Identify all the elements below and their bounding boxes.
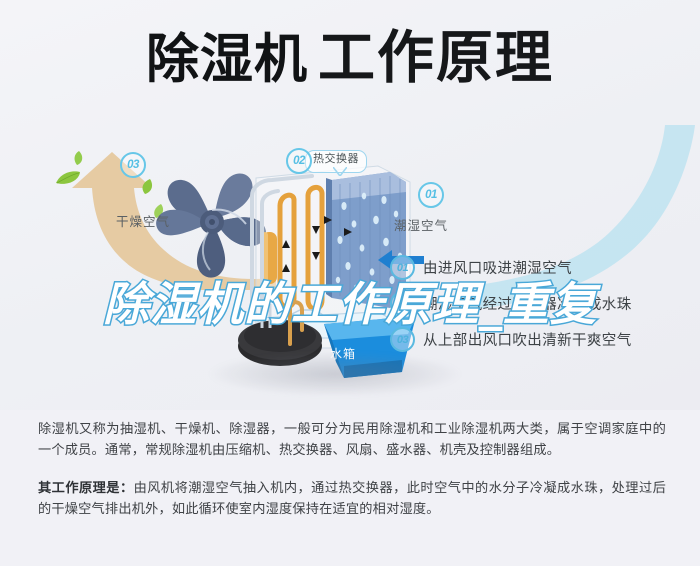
legend-text: 从上部出风口吹出清新干爽空气	[423, 329, 632, 350]
legend-item: 03 从上部出风口吹出清新干爽空气	[390, 327, 690, 352]
legend-item: 01 由进风口吸进潮湿空气	[390, 255, 690, 280]
label-moist-air: 潮湿空气	[394, 215, 448, 234]
legend-item: 02 潮湿空气经过蒸发器冷凝成水珠	[390, 291, 690, 316]
diagram-badge-02: 02	[286, 148, 312, 174]
diagram-badge-01: 01	[418, 182, 444, 208]
page-title: 除湿机工作原理	[0, 30, 700, 87]
diagram-badge-03: 03	[120, 152, 146, 178]
label-dry-air: 干燥空气	[116, 211, 170, 230]
paragraph-1: 除湿机又称为抽湿机、干燥机、除湿器，一般可分为民用除湿机和工业除湿机两大类，属于…	[38, 418, 666, 460]
legend-num: 01	[390, 255, 415, 280]
legend-list: 01 由进风口吸进潮湿空气 02 潮湿空气经过蒸发器冷凝成水珠 03 从上部出风…	[390, 255, 690, 363]
legend-num: 02	[390, 291, 415, 316]
leaf-icon	[55, 170, 81, 186]
legend-text: 潮湿空气经过蒸发器冷凝成水珠	[423, 293, 632, 314]
page-title-part1: 除湿机	[146, 30, 308, 89]
paragraph-2-lead: 其工作原理是：	[38, 480, 134, 495]
paragraph-gap	[38, 464, 666, 477]
callout-tail-icon	[333, 167, 347, 176]
legend-text: 由进风口吸进潮湿空气	[423, 257, 572, 278]
leaf-icon	[72, 150, 85, 166]
legend-num: 03	[390, 327, 415, 352]
diagram-hero: 除湿机工作原理	[0, 0, 700, 410]
page-title-part2: 工作原理	[318, 25, 554, 91]
page-root: 除湿机工作原理	[0, 0, 700, 566]
paragraph-2: 其工作原理是：由风机将潮湿空气抽入机内，通过热交换器，此时空气中的水分子冷凝成水…	[38, 477, 666, 519]
article-body: 除湿机又称为抽湿机、干燥机、除湿器，一般可分为民用除湿机和工业除湿机两大类，属于…	[38, 418, 666, 523]
